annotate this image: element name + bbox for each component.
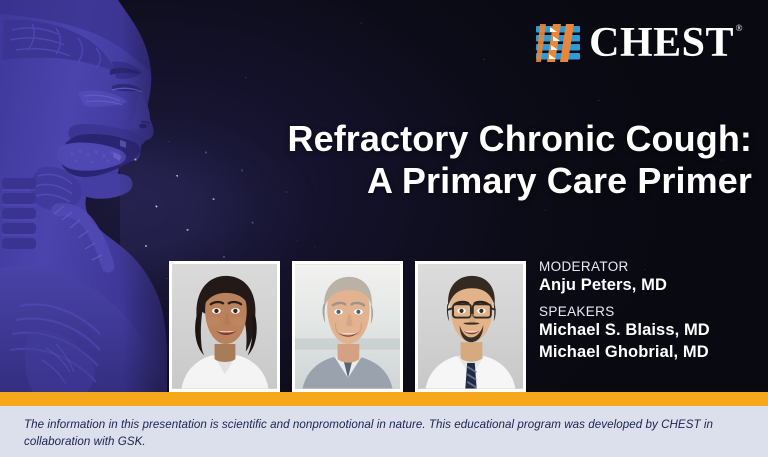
speaker-name-2: Michael Ghobrial, MD xyxy=(539,342,764,364)
presentation-title-slide: CHEST ® Refractory Chronic Cough: A Prim… xyxy=(0,0,768,457)
page-title: Refractory Chronic Cough: A Primary Care… xyxy=(200,118,752,202)
credits-block: MODERATOR Anju Peters, MD SPEAKERS Micha… xyxy=(539,259,764,363)
headshot-michael-blaiss xyxy=(292,261,403,392)
registered-trademark-icon: ® xyxy=(736,24,743,33)
speaker-name-1: Michael S. Blaiss, MD xyxy=(539,320,764,342)
headshot-anju-peters xyxy=(169,261,280,392)
orange-divider-bar xyxy=(0,392,768,406)
chest-logo-text: CHEST xyxy=(589,20,734,66)
footer-disclaimer-bar: The information in this presentation is … xyxy=(0,406,768,457)
title-line-1: Refractory Chronic Cough: xyxy=(200,118,752,160)
chest-logo-wordmark: CHEST ® xyxy=(589,22,734,64)
moderator-label: MODERATOR xyxy=(539,259,764,274)
title-line-2: A Primary Care Primer xyxy=(200,160,752,202)
headshot-michael-ghobrial xyxy=(415,261,526,392)
disclaimer-text: The information in this presentation is … xyxy=(24,416,744,451)
chest-logo: CHEST ® xyxy=(536,22,734,64)
credits-spacer xyxy=(539,297,764,304)
chest-bars-logo-icon xyxy=(536,24,580,62)
speakers-label: SPEAKERS xyxy=(539,304,764,319)
speaker-headshot-group xyxy=(169,261,526,392)
moderator-name: Anju Peters, MD xyxy=(539,275,764,297)
